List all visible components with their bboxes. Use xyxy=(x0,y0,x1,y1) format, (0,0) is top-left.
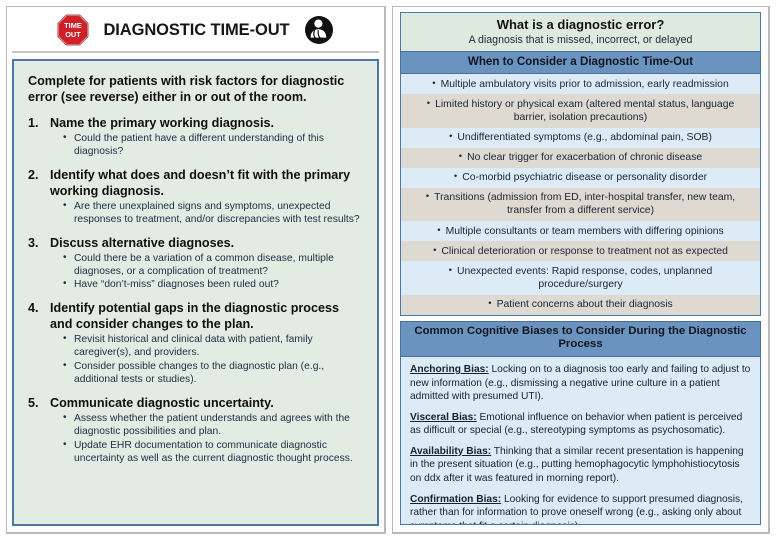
step-item: Discuss alternative diagnoses. Could the… xyxy=(28,236,363,293)
timeout-steps-list: Name the primary working diagnosis. Coul… xyxy=(28,116,363,466)
left-panel-frame: TIME OUT DIAGNOSTIC TIME-OUT xyxy=(6,6,386,534)
step-title: Discuss alternative diagnoses. xyxy=(50,236,363,252)
bullet-icon: • xyxy=(433,245,436,257)
bias-item: Availability Bias: Thinking that a simil… xyxy=(410,445,751,486)
page-title: DIAGNOSTIC TIME-OUT xyxy=(103,21,289,40)
when-list-item: •Undifferentiated symptoms (e.g., abdomi… xyxy=(401,128,760,148)
step-sub-list: Assess whether the patient understands a… xyxy=(50,413,363,466)
diagnostic-error-definition-box: What is a diagnostic error? A diagnosis … xyxy=(400,12,761,51)
step-sub-list: Could the patient have a different under… xyxy=(50,133,363,159)
step-sub-item: Could the patient have a different under… xyxy=(63,133,363,159)
definition-subtitle: A diagnosis that is missed, incorrect, o… xyxy=(407,34,754,47)
when-to-consider-list: •Multiple ambulatory visits prior to adm… xyxy=(400,74,761,315)
when-list-item: •Patient concerns about their diagnosis xyxy=(401,295,760,315)
step-title: Identify what does and doesn’t fit with … xyxy=(50,168,363,200)
bullet-icon: • xyxy=(427,98,430,110)
step-title: Name the primary working diagnosis. xyxy=(50,116,363,132)
when-list-item: •No clear trigger for exacerbation of ch… xyxy=(401,148,760,168)
bias-name: Visceral Bias: xyxy=(410,412,477,423)
poster-root: TIME OUT DIAGNOSTIC TIME-OUT xyxy=(0,0,777,544)
when-list-item-label: Undifferentiated symptoms (e.g., abdomin… xyxy=(457,132,712,143)
when-list-item-label: No clear trigger for exacerbation of chr… xyxy=(467,152,702,163)
right-panel-stack: What is a diagnostic error? A diagnosis … xyxy=(400,12,761,525)
cognitive-biases-box: Anchoring Bias: Locking on to a diagnosi… xyxy=(400,357,761,525)
step-item: Communicate diagnostic uncertainty. Asse… xyxy=(28,396,363,466)
bias-item: Confirmation Bias: Looking for evidence … xyxy=(410,493,751,526)
instructions-intro: Complete for patients with risk factors … xyxy=(28,73,363,105)
right-panel-frame: What is a diagnostic error? A diagnosis … xyxy=(392,6,770,534)
bias-name: Anchoring Bias: xyxy=(410,364,489,375)
bullet-icon: • xyxy=(426,191,429,203)
when-list-item-label: Patient concerns about their diagnosis xyxy=(497,299,673,310)
step-sub-item: Assess whether the patient understands a… xyxy=(63,413,363,439)
when-list-item: •Multiple consultants or team members wi… xyxy=(401,221,760,241)
time-out-stop-sign-icon: TIME OUT xyxy=(57,14,89,46)
bullet-icon: • xyxy=(449,131,452,143)
when-list-item-label: Co-morbid psychiatric disease or persona… xyxy=(462,172,707,183)
when-list-item: •Multiple ambulatory visits prior to adm… xyxy=(401,74,760,94)
when-list-item-label: Unexpected events: Rapid response, codes… xyxy=(457,266,712,290)
when-list-item-label: Limited history or physical exam (altere… xyxy=(435,99,734,123)
bias-item: Visceral Bias: Emotional influence on be… xyxy=(410,411,751,438)
when-list-item-label: Transitions (admission from ED, inter-ho… xyxy=(434,192,735,216)
when-list-item-label: Multiple ambulatory visits prior to admi… xyxy=(441,79,729,90)
when-list-item: •Clinical deterioration or response to t… xyxy=(401,241,760,261)
svg-text:OUT: OUT xyxy=(66,30,82,39)
when-list-item: •Transitions (admission from ED, inter-h… xyxy=(401,188,760,221)
step-sub-list: Could there be a variation of a common d… xyxy=(50,253,363,293)
svg-text:TIME: TIME xyxy=(65,21,83,30)
left-panel: TIME OUT DIAGNOSTIC TIME-OUT xyxy=(0,0,392,544)
bullet-icon: • xyxy=(459,151,462,163)
step-item: Name the primary working diagnosis. Coul… xyxy=(28,116,363,159)
when-list-item: •Limited history or physical exam (alter… xyxy=(401,94,760,127)
step-sub-item: Update EHR documentation to communicate … xyxy=(63,440,363,466)
step-title: Communicate diagnostic uncertainty. xyxy=(50,396,363,412)
definition-title: What is a diagnostic error? xyxy=(407,17,754,33)
when-list-item-label: Multiple consultants or team members wit… xyxy=(446,226,724,237)
left-panel-body: Complete for patients with risk factors … xyxy=(12,59,379,526)
bullet-icon: • xyxy=(449,265,452,277)
bias-name: Confirmation Bias: xyxy=(410,494,501,505)
step-sub-list: Are there unexplained signs and symptoms… xyxy=(50,201,363,227)
bullet-icon: • xyxy=(437,225,440,237)
step-sub-list: Revisit historical and clinical data wit… xyxy=(50,334,363,387)
clinician-figure-icon xyxy=(304,15,334,45)
bias-item: Anchoring Bias: Locking on to a diagnosi… xyxy=(410,363,751,404)
when-list-item-label: Clinical deterioration or response to tr… xyxy=(441,246,727,257)
step-title: Identify potential gaps in the diagnosti… xyxy=(50,301,363,333)
step-sub-item: Consider possible changes to the diagnos… xyxy=(63,361,363,387)
cognitive-biases-header: Common Cognitive Biases to Consider Duri… xyxy=(400,321,761,357)
step-sub-item: Revisit historical and clinical data wit… xyxy=(63,334,363,360)
right-panel: What is a diagnostic error? A diagnosis … xyxy=(392,0,777,544)
when-list-item: •Co-morbid psychiatric disease or person… xyxy=(401,168,760,188)
when-to-consider-header: When to Consider a Diagnostic Time-Out xyxy=(400,51,761,74)
step-sub-item: Could there be a variation of a common d… xyxy=(63,253,363,279)
left-panel-header: TIME OUT DIAGNOSTIC TIME-OUT xyxy=(12,11,379,53)
step-item: Identify potential gaps in the diagnosti… xyxy=(28,301,363,387)
bias-name: Availability Bias: xyxy=(410,446,491,457)
when-list-item: •Unexpected events: Rapid response, code… xyxy=(401,261,760,294)
bullet-icon: • xyxy=(488,298,491,310)
step-sub-item: Have “don’t-miss” diagnoses been ruled o… xyxy=(63,279,363,292)
bullet-icon: • xyxy=(454,171,457,183)
bullet-icon: • xyxy=(432,78,435,90)
step-sub-item: Are there unexplained signs and symptoms… xyxy=(63,201,363,227)
step-item: Identify what does and doesn’t fit with … xyxy=(28,168,363,227)
